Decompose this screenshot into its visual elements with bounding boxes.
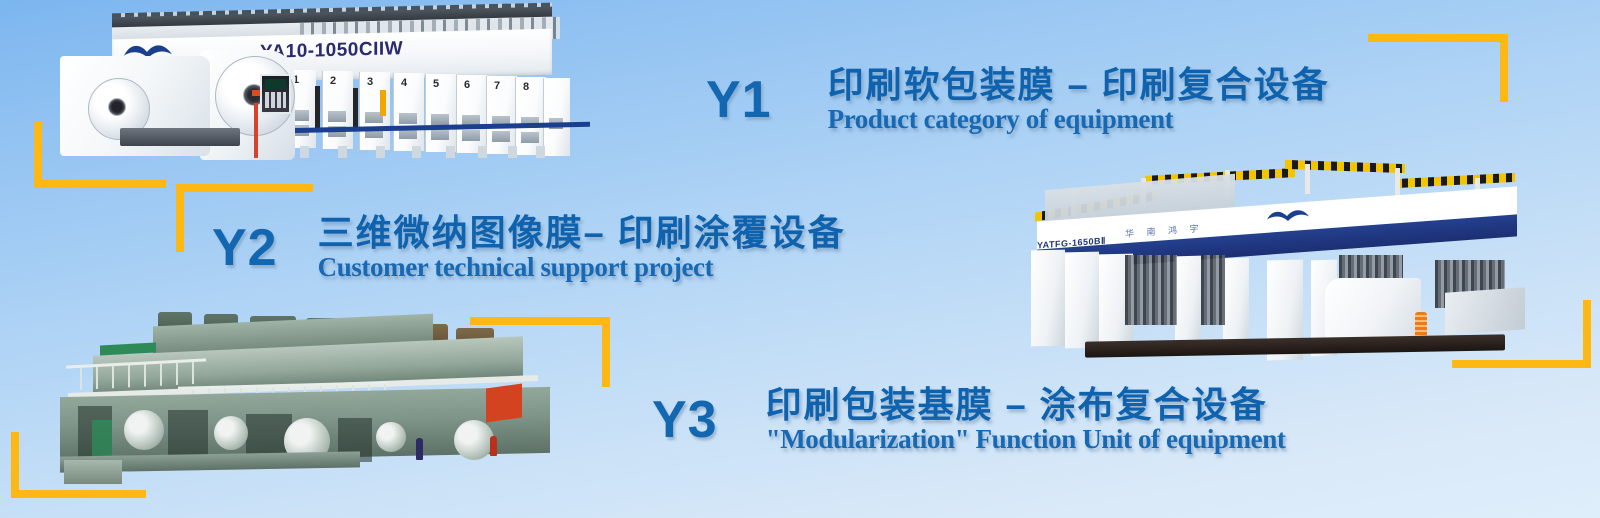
entry-y1-chinese: 印刷软包装膜 – 印刷复合设备 — [828, 66, 1330, 105]
bracket-top-left-vertical — [34, 122, 42, 186]
entry-y1-code: Y1 — [706, 74, 772, 126]
entry-y2-chinese: 三维微纳图像膜– 印刷涂覆设备 — [318, 214, 846, 253]
entry-y2-code: Y2 — [212, 222, 278, 274]
entry-y3: Y3 印刷包装基膜 – 涂布复合设备 "Modularization" Func… — [652, 386, 1285, 455]
entry-y1: Y1 印刷软包装膜 – 印刷复合设备 Product category of e… — [706, 66, 1330, 135]
entry-y3-english: "Modularization" Function Unit of equipm… — [766, 425, 1286, 455]
bracket-bottom-left-vertical — [11, 432, 19, 498]
bracket-bottom-left-horizontal — [11, 490, 146, 498]
machine-photo-coating-line: YATFG-1650BⅡ 华 南 鸿 宇 — [975, 160, 1535, 360]
entry-y2: Y2 三维微纳图像膜– 印刷涂覆设备 Customer technical su… — [212, 214, 846, 283]
bracket-right-lower-horizontal — [1452, 360, 1591, 368]
bracket-y2-vertical — [176, 184, 184, 252]
bracket-top-right-vertical — [1500, 34, 1508, 102]
machine1-printing-units: 1 2 3 4 5 6 7 8 — [285, 68, 585, 153]
bracket-right-lower-vertical — [1583, 300, 1591, 368]
entry-y3-chinese: 印刷包装基膜 – 涂布复合设备 — [766, 386, 1286, 425]
promo-banner: H Y YA10-1050CIIW 1 2 3 4 5 6 7 8 — [0, 0, 1600, 518]
bracket-top-left-horizontal — [34, 180, 166, 188]
entry-y2-english: Customer technical support project — [318, 253, 846, 283]
machine-photo-paper-coater — [38, 310, 568, 485]
machine2-brand-logo-icon — [1265, 205, 1311, 225]
bracket-y2-horizontal — [176, 184, 313, 192]
entry-y3-code: Y3 — [652, 394, 718, 446]
entry-y1-english: Product category of equipment — [828, 105, 1330, 135]
machine-photo-gravure-press: H Y YA10-1050CIIW 1 2 3 4 5 6 7 8 — [60, 8, 600, 173]
bracket-y3-vertical — [602, 317, 610, 387]
bracket-top-right-horizontal — [1368, 34, 1508, 42]
